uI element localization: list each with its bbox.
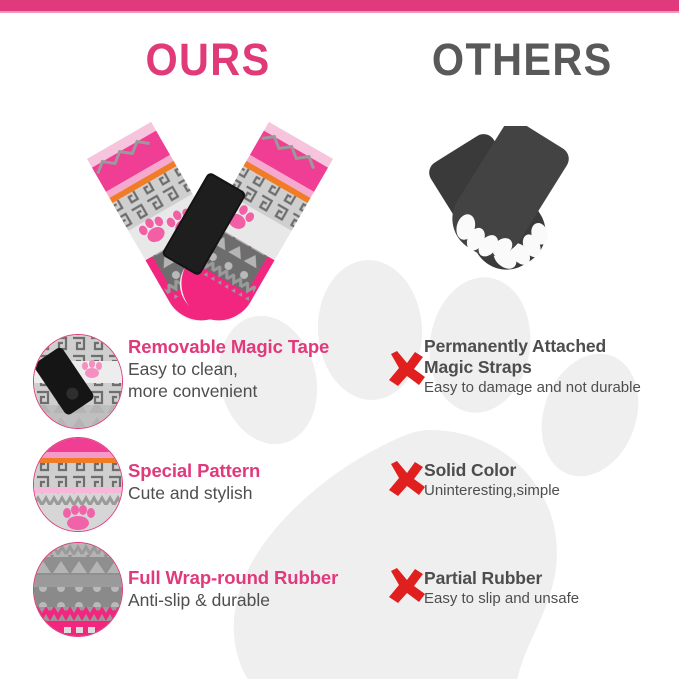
others-feature-text: Solid Color Uninteresting,simple xyxy=(424,460,674,501)
hero-image-others xyxy=(398,126,622,296)
top-accent-bar-shadow xyxy=(0,11,679,13)
hero-image-ours xyxy=(84,96,336,321)
red-x-icon xyxy=(386,350,426,388)
hero-images xyxy=(0,96,679,321)
red-x-icon xyxy=(386,460,426,498)
others-feature-title: Permanently Attached xyxy=(424,336,674,357)
others-feature-sub: Uninteresting,simple xyxy=(424,481,674,501)
others-feature-sub: Easy to slip and unsafe xyxy=(424,589,674,609)
heading-ours: OURS xyxy=(145,31,270,89)
ours-feature-title: Full Wrap-round Rubber xyxy=(128,566,388,589)
ours-feature-sub-line: more convenient xyxy=(128,380,388,402)
ours-feature-sub-line: Anti-slip & durable xyxy=(128,589,388,611)
others-feature-title: Magic Straps xyxy=(424,357,674,378)
feature-row: Full Wrap-round Rubber Anti-slip & durab… xyxy=(0,538,679,643)
ours-feature-sub-line: Easy to clean, xyxy=(128,358,388,380)
others-feature-title: Solid Color xyxy=(424,460,674,481)
ours-feature-title: Special Pattern xyxy=(128,459,388,482)
ours-feature-text: Special Pattern Cute and stylish xyxy=(128,459,388,504)
ours-feature-text: Full Wrap-round Rubber Anti-slip & durab… xyxy=(128,566,388,611)
infographic-root: OURS OTHERS xyxy=(0,0,679,679)
ours-feature-title: Removable Magic Tape xyxy=(128,335,388,358)
feature-rows: Removable Magic Tape Easy to clean, more… xyxy=(0,328,679,643)
ours-feature-text: Removable Magic Tape Easy to clean, more… xyxy=(128,335,388,402)
others-feature-sub: Easy to damage and not durable xyxy=(424,378,674,398)
red-x-icon xyxy=(386,567,426,605)
top-accent-bar xyxy=(0,0,679,11)
ours-feature-sub-line: Cute and stylish xyxy=(128,482,388,504)
others-feature-text: Permanently Attached Magic Straps Easy t… xyxy=(424,336,674,398)
feature-row: Special Pattern Cute and stylish Solid C… xyxy=(0,433,679,538)
feature-row: Removable Magic Tape Easy to clean, more… xyxy=(0,328,679,433)
heading-others: OTHERS xyxy=(432,31,613,89)
thumbnail-full-wrap-round-rubber xyxy=(33,542,123,637)
others-feature-text: Partial Rubber Easy to slip and unsafe xyxy=(424,568,674,609)
thumbnail-removable-magic-tape xyxy=(33,334,123,429)
others-feature-title: Partial Rubber xyxy=(424,568,674,589)
thumbnail-special-pattern xyxy=(33,437,123,532)
headings-row: OURS OTHERS xyxy=(0,31,679,89)
